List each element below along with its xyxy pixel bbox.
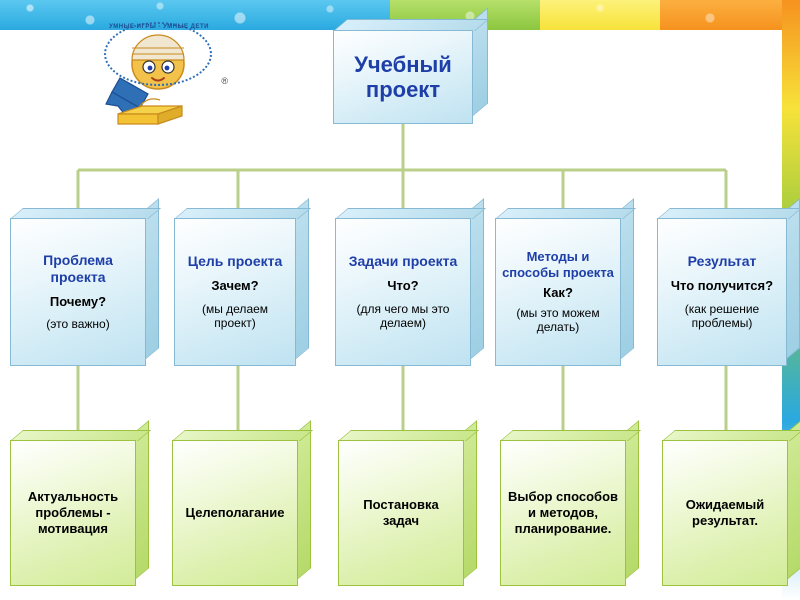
root-node-label: Учебный проект bbox=[334, 52, 472, 103]
box-side-face bbox=[787, 198, 800, 359]
root-node-face: Учебный проект bbox=[333, 30, 473, 124]
node-sub-cel: (мы делаем проект) bbox=[181, 302, 289, 331]
node-question-zadachi: Что? bbox=[387, 278, 418, 294]
leaf-face-rezultat: Ожидаемый результат. bbox=[662, 440, 788, 586]
node-question-rezultat: Что получится? bbox=[671, 278, 773, 294]
leaf-box-metody[interactable]: Выбор способов и методов, планирование. bbox=[500, 440, 626, 586]
node-question-problema: Почему? bbox=[50, 294, 106, 310]
box-side-face bbox=[471, 198, 484, 359]
leaf-face-metody: Выбор способов и методов, планирование. bbox=[500, 440, 626, 586]
node-sub-zadachi: (для чего мы это делаем) bbox=[342, 302, 464, 331]
node-face-problema: Проблема проекта Почему? (это важно) bbox=[10, 218, 146, 366]
umnye-igry-logo: УМНЫЕ ИГРЫ - УМНЫЕ ДЕТИ ® bbox=[96, 20, 236, 132]
node-box-zadachi[interactable]: Задачи проекта Что? (для чего мы это дел… bbox=[335, 218, 471, 366]
leaf-box-zadachi[interactable]: Постановка задач bbox=[338, 440, 464, 586]
leaf-face-zadachi: Постановка задач bbox=[338, 440, 464, 586]
node-face-rezultat: Результат Что получится? (как решение пр… bbox=[657, 218, 787, 366]
leaf-label-cel: Целеполагание bbox=[186, 505, 285, 521]
logo-ring-text: УМНЫЕ ИГРЫ - УМНЫЕ ДЕТИ bbox=[100, 24, 218, 30]
leaf-label-zadachi: Постановка задач bbox=[345, 497, 457, 530]
node-face-cel: Цель проекта Зачем? (мы делаем проект) bbox=[174, 218, 296, 366]
root-node-box[interactable]: Учебный проект bbox=[333, 30, 473, 124]
box-side-face bbox=[464, 420, 477, 579]
box-side-face bbox=[788, 420, 800, 579]
box-side-face bbox=[146, 198, 159, 359]
leaf-label-problema: Актуальность проблемы - мотивация bbox=[17, 489, 129, 538]
leaf-box-problema[interactable]: Актуальность проблемы - мотивация bbox=[10, 440, 136, 586]
node-box-cel[interactable]: Цель проекта Зачем? (мы делаем проект) bbox=[174, 218, 296, 366]
box-side-face bbox=[621, 198, 634, 359]
node-header-rezultat: Результат bbox=[688, 253, 757, 270]
node-header-cel: Цель проекта bbox=[188, 253, 283, 270]
node-question-metody: Как? bbox=[543, 285, 573, 301]
node-sub-metody: (мы это можем делать) bbox=[502, 306, 614, 335]
node-question-cel: Зачем? bbox=[211, 278, 258, 294]
logo-dotted-ring bbox=[104, 22, 212, 86]
box-side-face bbox=[296, 198, 309, 359]
node-face-zadachi: Задачи проекта Что? (для чего мы это дел… bbox=[335, 218, 471, 366]
node-header-problema: Проблема проекта bbox=[17, 252, 139, 286]
node-box-rezultat[interactable]: Результат Что получится? (как решение пр… bbox=[657, 218, 787, 366]
leaf-label-rezultat: Ожидаемый результат. bbox=[669, 497, 781, 530]
leaf-box-rezultat[interactable]: Ожидаемый результат. bbox=[662, 440, 788, 586]
node-header-metody: Методы и способы проекта bbox=[502, 249, 614, 280]
leaf-face-cel: Целеполагание bbox=[172, 440, 298, 586]
slide-canvas: УМНЫЕ ИГРЫ - УМНЫЕ ДЕТИ ® Учебный проект bbox=[0, 0, 800, 600]
node-sub-problema: (это важно) bbox=[46, 317, 109, 331]
box-side-face bbox=[298, 420, 311, 579]
node-sub-rezultat: (как решение проблемы) bbox=[663, 302, 781, 331]
registered-mark: ® bbox=[221, 76, 228, 86]
leaf-face-problema: Актуальность проблемы - мотивация bbox=[10, 440, 136, 586]
box-side-face bbox=[136, 420, 149, 579]
node-header-zadachi: Задачи проекта bbox=[349, 253, 458, 270]
node-face-metody: Методы и способы проекта Как? (мы это мо… bbox=[495, 218, 621, 366]
leaf-box-cel[interactable]: Целеполагание bbox=[172, 440, 298, 586]
leaf-label-metody: Выбор способов и методов, планирование. bbox=[507, 489, 619, 538]
node-box-problema[interactable]: Проблема проекта Почему? (это важно) bbox=[10, 218, 146, 366]
node-box-metody[interactable]: Методы и способы проекта Как? (мы это мо… bbox=[495, 218, 621, 366]
box-side-face bbox=[626, 420, 639, 579]
